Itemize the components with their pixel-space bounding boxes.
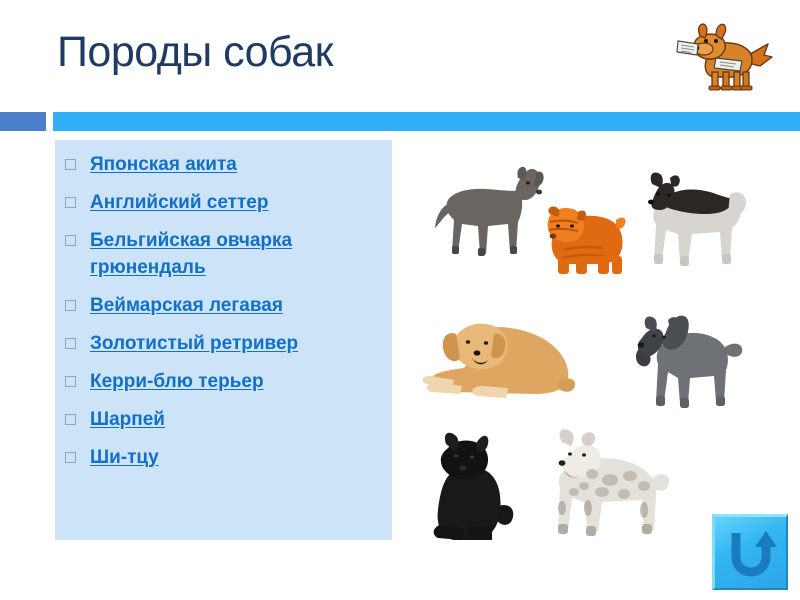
breed-link[interactable]: Ши-тцу (90, 445, 159, 472)
hollow-square-bullet-icon (65, 197, 76, 208)
breed-list-panel: Японская акита Английский сеттер Бельгий… (55, 140, 392, 540)
hollow-square-bullet-icon (65, 338, 76, 349)
list-item[interactable]: Английский сеттер (55, 190, 392, 217)
title-accent-bar (53, 112, 800, 131)
list-item[interactable]: Золотистый ретривер (55, 331, 392, 358)
hollow-square-bullet-icon (65, 376, 76, 387)
list-item[interactable]: Веймарская легавая (55, 293, 392, 320)
list-item[interactable]: Керри-блю терьер (55, 369, 392, 396)
hollow-square-bullet-icon (65, 300, 76, 311)
breed-link[interactable]: Керри-блю терьер (90, 369, 264, 396)
list-item[interactable]: Ши-тцу (55, 445, 392, 472)
title-accent-block (0, 112, 46, 131)
breed-link[interactable]: Бельгийская овчарка грюнендаль (90, 228, 380, 282)
breed-link[interactable]: Шарпей (90, 407, 165, 434)
hollow-square-bullet-icon (65, 414, 76, 425)
kerry-blue-terrier-photo (632, 308, 748, 420)
list-item[interactable]: Шарпей (55, 407, 392, 434)
breed-link[interactable]: Веймарская легавая (90, 293, 283, 320)
golden-retriever-photo (420, 312, 580, 408)
u-turn-arrow-up-icon[interactable] (712, 514, 788, 590)
hollow-square-bullet-icon (65, 159, 76, 170)
weimaraner-photo (432, 158, 552, 270)
slide-root: Породы собак (0, 0, 800, 600)
groenendael-photo (428, 430, 520, 552)
breed-link[interactable]: Японская акита (90, 152, 237, 179)
breed-link[interactable]: Золотистый ретривер (90, 331, 298, 358)
english-setter-photo (540, 422, 674, 552)
akita-photo (636, 168, 754, 276)
hollow-square-bullet-icon (65, 452, 76, 463)
list-item[interactable]: Японская акита (55, 152, 392, 179)
list-item[interactable]: Бельгийская овчарка грюнендаль (55, 228, 392, 282)
breed-link[interactable]: Английский сеттер (90, 190, 268, 217)
cartoon-dog-with-newspaper-icon (664, 14, 776, 100)
shar-pei-photo (540, 200, 632, 278)
page-title: Породы собак (57, 28, 333, 77)
hollow-square-bullet-icon (65, 235, 76, 246)
